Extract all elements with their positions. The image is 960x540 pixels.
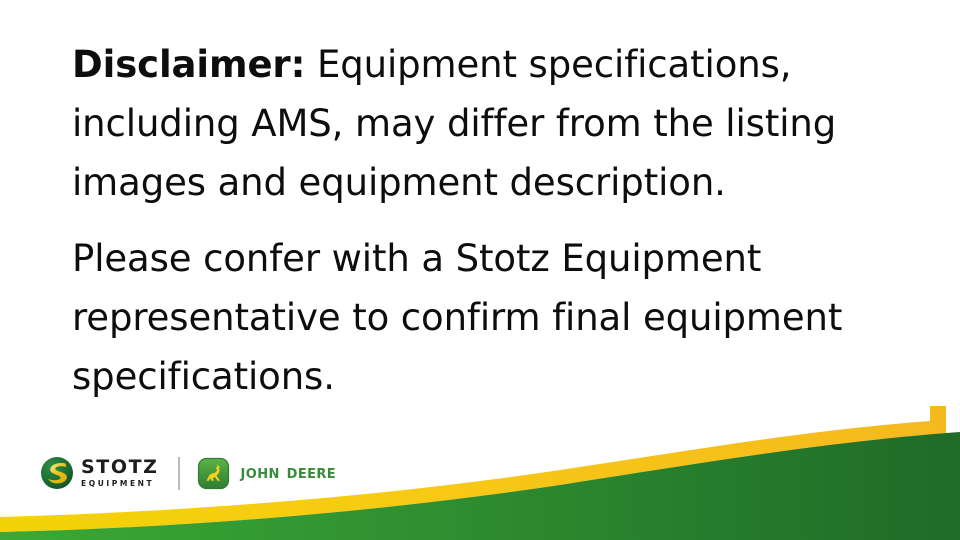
disclaimer-paragraph-2: Please confer with a Stotz Equipment rep… (72, 230, 902, 406)
stotz-name: STOTZ (81, 458, 159, 477)
stotz-subtitle: EQUIPMENT (81, 480, 159, 488)
john-deere-logo: John Deere (197, 457, 337, 490)
stotz-equipment-logo: STOTZ EQUIPMENT (40, 456, 159, 490)
disclaimer-paragraph-1: Disclaimer: Equipment specifications, in… (72, 36, 902, 212)
logo-divider (178, 457, 180, 490)
stotz-s-swoosh-circle-icon (40, 456, 74, 490)
disclaimer-lead-label: Disclaimer: (72, 43, 305, 86)
disclaimer-text-block: Disclaimer: Equipment specifications, in… (72, 36, 902, 415)
disclaimer-slide: Disclaimer: Equipment specifications, in… (0, 0, 960, 540)
john-deere-wordmark: John Deere (241, 464, 337, 483)
stotz-wordmark: STOTZ EQUIPMENT (81, 458, 159, 488)
logo-bar: STOTZ EQUIPMENT John Deere (40, 452, 336, 494)
john-deere-leaping-deer-icon (197, 457, 230, 490)
